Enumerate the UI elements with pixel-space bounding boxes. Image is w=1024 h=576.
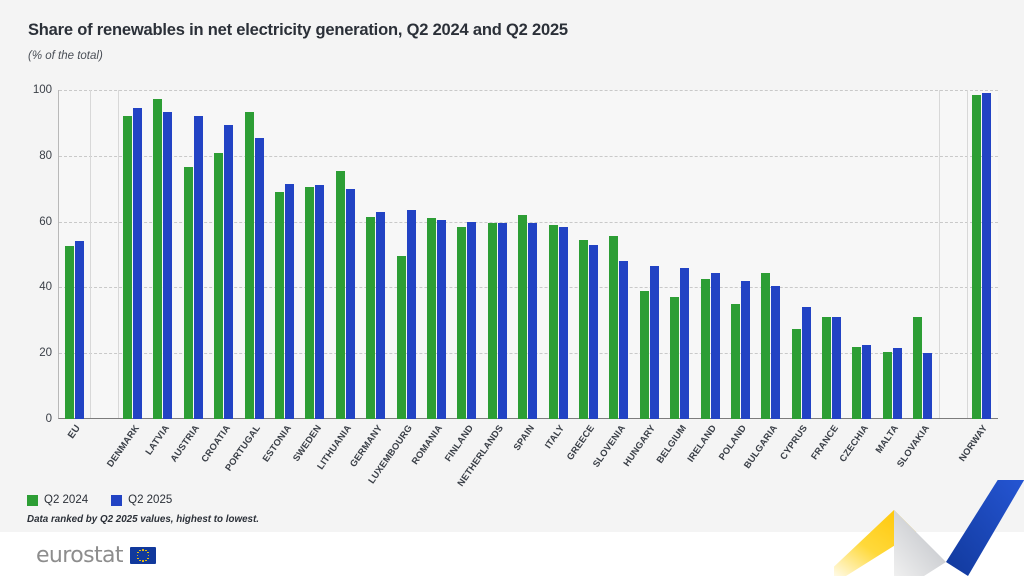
legend-swatch [27,495,38,506]
bar-group[interactable] [604,90,634,419]
bar-q2-2025[interactable] [771,286,780,419]
bar-q2-2025[interactable] [589,245,598,419]
eu-flag-star [137,552,139,554]
bar-q2-2025[interactable] [346,189,355,419]
bar-q2-2025[interactable] [133,108,142,419]
bar-q2-2024[interactable] [883,352,892,419]
y-axis-tick-label: 80 [12,150,52,162]
bar-q2-2024[interactable] [397,256,406,419]
bar-q2-2024[interactable] [609,236,618,419]
bar-group[interactable] [573,90,603,419]
bar-q2-2025[interactable] [923,353,932,419]
bar-group[interactable] [178,90,208,419]
chart-page: Share of renewables in net electricity g… [0,0,1024,576]
bar-group[interactable] [725,90,755,419]
bar-q2-2024[interactable] [275,192,284,419]
x-axis-label: SPAIN [511,423,536,452]
legend-label: Q2 2024 [44,494,88,506]
bar-q2-2025[interactable] [559,227,568,419]
bar-q2-2024[interactable] [670,297,679,419]
bar-q2-2024[interactable] [153,99,162,419]
eurostat-logo: eurostat [36,543,156,568]
eu-flag-star [148,555,150,557]
bar-group[interactable] [421,90,451,419]
y-axis-tick-label: 40 [12,281,52,293]
bar-q2-2025[interactable] [376,212,385,419]
bar-q2-2024[interactable] [518,215,527,419]
bar-q2-2024[interactable] [913,317,922,419]
bar-group[interactable] [543,90,573,419]
chart-footnote: Data ranked by Q2 2025 values, highest t… [27,514,259,525]
bar-q2-2025[interactable] [163,112,172,419]
bar-q2-2025[interactable] [711,273,720,419]
bar-q2-2025[interactable] [194,116,203,419]
x-axis-label: EU [66,423,83,441]
bar-group[interactable] [361,90,391,419]
bar-q2-2024[interactable] [972,95,981,419]
bar-q2-2025[interactable] [832,317,841,419]
bar-group[interactable] [816,90,846,419]
bar-q2-2025[interactable] [75,241,84,419]
bar-q2-2024[interactable] [731,304,740,419]
bar-q2-2025[interactable] [437,220,446,419]
x-label-cell: NORWAY [966,419,996,494]
bar-group[interactable] [847,90,877,419]
y-axis-tick-label: 60 [12,216,52,228]
bar-group[interactable] [452,90,482,419]
x-axis-label: LATVIA [143,423,171,457]
eu-flag-star [139,560,141,562]
eu-flag-star [147,552,149,554]
bar-q2-2024[interactable] [65,246,74,419]
bar-group[interactable] [908,90,938,419]
bar-group[interactable] [209,90,239,419]
bar-group[interactable] [756,90,786,419]
bar-group[interactable] [117,90,147,419]
bar-q2-2024[interactable] [701,279,710,419]
bar-q2-2024[interactable] [123,116,132,419]
x-label-cell: EU [59,419,89,494]
bar-q2-2024[interactable] [366,217,375,419]
bar-group[interactable] [966,90,996,419]
bar-group[interactable] [59,90,89,419]
x-label-cell: SLOVAKIA [908,419,938,494]
bar-group[interactable] [148,90,178,419]
bar-q2-2024[interactable] [852,347,861,419]
group-spacer [89,90,117,419]
eu-flag-icon [130,547,156,564]
bar-q2-2025[interactable] [528,223,537,419]
bar-q2-2024[interactable] [761,273,770,419]
bar-group[interactable] [300,90,330,419]
x-label-cell: CZECHIA [847,419,877,494]
bar-q2-2024[interactable] [245,112,254,419]
brand-text: eurostat [36,543,123,568]
bar-q2-2024[interactable] [792,329,801,419]
bar-q2-2025[interactable] [982,93,991,419]
bar-q2-2024[interactable] [579,240,588,419]
legend-item[interactable]: Q2 2024 [27,494,88,506]
bar-group[interactable] [786,90,816,419]
bar-q2-2025[interactable] [802,307,811,419]
x-label-cell: DENMARK [117,419,147,494]
bar-group[interactable] [695,90,725,419]
bar-group[interactable] [512,90,542,419]
bar-q2-2025[interactable] [650,266,659,419]
eu-flag-star [142,560,144,562]
eu-flag-star [139,550,141,552]
page-subtitle: (% of the total) [28,50,103,62]
bar-q2-2024[interactable] [214,153,223,419]
bar-q2-2025[interactable] [224,125,233,419]
group-spacer [938,90,966,419]
bar-group[interactable] [634,90,664,419]
bar-group[interactable] [269,90,299,419]
bar-q2-2024[interactable] [305,187,314,419]
bar-group[interactable] [877,90,907,419]
y-axis-tick-label: 20 [12,347,52,359]
bar-q2-2024[interactable] [640,291,649,419]
x-axis-label: MALTA [874,423,901,455]
bar-group[interactable] [239,90,269,419]
bar-q2-2025[interactable] [498,223,507,419]
bars-container [59,90,998,419]
x-label-cell: SPAIN [512,419,542,494]
bar-q2-2024[interactable] [457,227,466,419]
y-axis-tick-label: 100 [12,84,52,96]
bar-q2-2025[interactable] [407,210,416,419]
bar-q2-2025[interactable] [315,185,324,419]
bar-q2-2024[interactable] [336,171,345,419]
eu-flag-star [142,549,144,551]
eu-flag-star [147,558,149,560]
eu-flag-star [137,558,139,560]
legend-item[interactable]: Q2 2025 [111,494,172,506]
bar-q2-2025[interactable] [680,268,689,419]
bar-group[interactable] [330,90,360,419]
x-axis-labels: EUDENMARKLATVIAAUSTRIACROATIAPORTUGALEST… [59,419,998,494]
bar-group[interactable] [391,90,421,419]
bar-q2-2025[interactable] [893,348,902,419]
bar-q2-2024[interactable] [549,225,558,419]
y-axis-tick-label: 0 [12,413,52,425]
bar-q2-2024[interactable] [427,218,436,419]
x-axis-label: ITALY [543,423,566,450]
bar-q2-2025[interactable] [619,261,628,419]
bar-group[interactable] [482,90,512,419]
bar-q2-2025[interactable] [255,138,264,419]
bar-q2-2024[interactable] [488,223,497,419]
eu-flag-star [137,555,139,557]
legend-swatch [111,495,122,506]
bar-q2-2025[interactable] [741,281,750,419]
chart-legend: Q2 2024Q2 2025 [27,494,186,506]
bar-q2-2025[interactable] [467,222,476,419]
bar-q2-2024[interactable] [184,167,193,419]
eu-flag-star [145,560,147,562]
x-label-cell: NETHERLANDS [482,419,512,494]
legend-label: Q2 2025 [128,494,172,506]
page-title: Share of renewables in net electricity g… [28,21,568,40]
bar-group[interactable] [664,90,694,419]
bar-q2-2025[interactable] [285,184,294,419]
bar-q2-2024[interactable] [822,317,831,419]
bar-q2-2025[interactable] [862,345,871,419]
